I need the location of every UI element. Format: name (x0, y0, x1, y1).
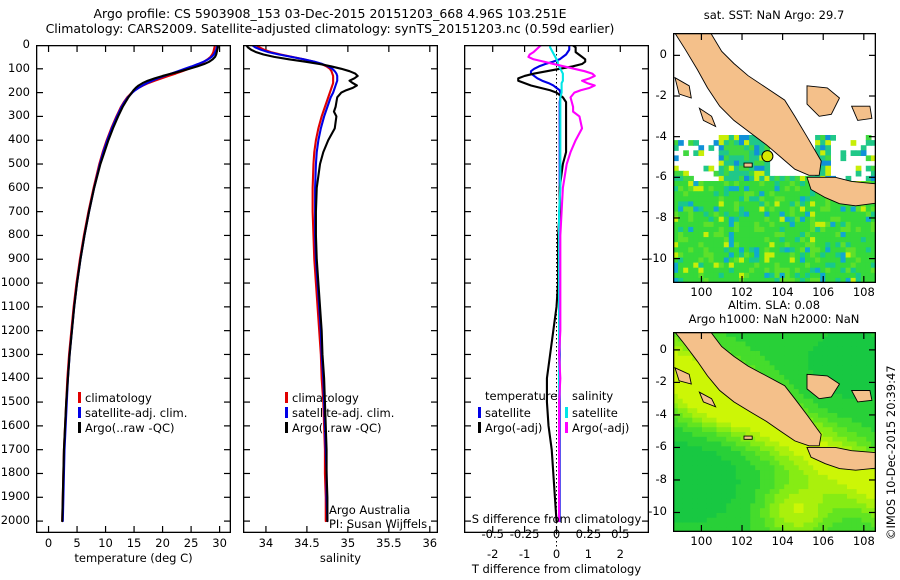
sla-cell (692, 375, 697, 380)
sst-cell (719, 135, 725, 141)
sla-cell (799, 461, 804, 466)
sla-cell (692, 413, 697, 418)
sst-cell (739, 242, 745, 248)
sst-cell (769, 273, 775, 279)
sst-cell (714, 273, 720, 279)
sla-cell (683, 446, 688, 451)
sst-cell (764, 196, 770, 202)
sla-cell (808, 337, 813, 342)
sst-cell (856, 222, 862, 228)
sst-cell (810, 196, 816, 202)
sst-cell (775, 212, 781, 218)
sst-cell (825, 140, 831, 146)
difference-plot[interactable] (464, 45, 649, 533)
sla-cell (683, 465, 688, 470)
map-sla-canvas[interactable] (673, 332, 876, 532)
sla-cell (775, 508, 780, 513)
sst-cell (704, 273, 710, 279)
sst-cell (841, 273, 847, 279)
sst-cell (714, 268, 720, 274)
sla-cell (721, 489, 726, 494)
sla-cell (775, 442, 780, 447)
sst-cell (749, 150, 755, 156)
sla-cell (717, 503, 722, 508)
sla-cell (697, 508, 702, 513)
sla-cell (779, 503, 784, 508)
sla-cell (866, 437, 871, 442)
sst-cell (759, 181, 765, 187)
sla-cell (707, 451, 712, 456)
sla-cell (837, 475, 842, 480)
sla-cell (789, 384, 794, 389)
sst-cell (714, 186, 720, 192)
sst-cell (775, 258, 781, 264)
sst-cell (678, 196, 684, 202)
sla-cell (712, 499, 717, 504)
sla-cell (712, 451, 717, 456)
sla-cell (784, 451, 789, 456)
temperature-series-satellite-adj-clim- (63, 45, 218, 521)
sst-cell (683, 171, 689, 177)
sla-cell (833, 489, 838, 494)
sla-cell (721, 446, 726, 451)
sla-cell (842, 413, 847, 418)
sla-cell (688, 499, 693, 504)
sla-cell (712, 475, 717, 480)
sst-cell (820, 263, 826, 269)
sla-cell (804, 513, 809, 518)
sla-cell (784, 475, 789, 480)
sst-cell (688, 201, 694, 207)
sla-cell (862, 484, 867, 489)
sla-cell (852, 432, 857, 437)
sst-cell (698, 150, 704, 156)
sla-cell (779, 508, 784, 513)
sst-cell (790, 191, 796, 197)
sla-cell (833, 513, 838, 518)
sla-cell (813, 503, 818, 508)
sla-cell (736, 518, 741, 523)
temperature-plot[interactable] (36, 45, 231, 533)
sst-cell (759, 176, 765, 182)
sla-cell (784, 437, 789, 442)
sst-cell (688, 222, 694, 228)
sst-cell (856, 273, 862, 279)
depth-tick-100: 100 (8, 61, 30, 75)
sst-cell (805, 252, 811, 258)
sla-cell (813, 470, 818, 475)
sla-cell (799, 470, 804, 475)
sst-cell (754, 258, 760, 264)
sst-cell (729, 161, 735, 167)
sst-cell (795, 247, 801, 253)
sla-cell (707, 513, 712, 518)
sla-cell (760, 484, 765, 489)
sla-cell (683, 503, 688, 508)
sla-cell (808, 503, 813, 508)
sla-cell (770, 503, 775, 508)
sst-cell (734, 222, 740, 228)
sla-cell (746, 494, 751, 499)
sla-cell (717, 456, 722, 461)
sla-cell (833, 394, 838, 399)
sla-cell (837, 423, 842, 428)
sla-cell (765, 437, 770, 442)
sla-cell (697, 427, 702, 432)
sla-cell (842, 432, 847, 437)
sst-cell (775, 186, 781, 192)
argo-position-marker[interactable] (762, 151, 773, 162)
sst-cell (820, 171, 826, 177)
sst-cell (729, 242, 735, 248)
sst-cell (759, 191, 765, 197)
sst-cell (835, 263, 841, 269)
sst-cell (729, 252, 735, 258)
sla-cell (726, 523, 731, 528)
sst-cell (734, 186, 740, 192)
depth-tick-1600: 1600 (1, 418, 30, 432)
sla-cell (828, 475, 833, 480)
sla-cell (765, 442, 770, 447)
sla-cell (683, 423, 688, 428)
sla-cell (726, 446, 731, 451)
sst-cell (861, 212, 867, 218)
sla-cell (799, 456, 804, 461)
sla-cell (828, 427, 833, 432)
sla-cell (847, 380, 852, 385)
sla-cell (828, 470, 833, 475)
sla-cell (741, 484, 746, 489)
sst-cell (744, 217, 750, 223)
sla-cell (833, 342, 838, 347)
sst-cell (866, 140, 872, 146)
sst-cell (734, 232, 740, 238)
sla-cell (750, 475, 755, 480)
sst-cell (739, 191, 745, 197)
sst-cell (719, 258, 725, 264)
sla-cell (847, 389, 852, 394)
sst-cell (719, 232, 725, 238)
sst-cell (775, 201, 781, 207)
sla-cell (683, 365, 688, 370)
sla-cell (808, 484, 813, 489)
sla-cell (813, 461, 818, 466)
sla-cell (755, 499, 760, 504)
sst-cell (856, 263, 862, 269)
sst-cell (820, 135, 826, 141)
sla-cell (804, 342, 809, 347)
sla-cell (779, 356, 784, 361)
sla-cell (794, 465, 799, 470)
temperature-legend-label: satellite-adj. clim. (85, 406, 187, 420)
legend-swatch-icon (285, 392, 288, 403)
sla-cell (862, 346, 867, 351)
sla-cell (731, 470, 736, 475)
sla-cell (847, 523, 852, 528)
sst-cell (764, 176, 770, 182)
map-sst[interactable] (673, 33, 876, 283)
temperature-series-argo-raw-qc- (62, 45, 218, 521)
sst-cell (810, 217, 816, 223)
sla-cell (799, 394, 804, 399)
sla-cell (707, 475, 712, 480)
map-sst-canvas[interactable] (673, 33, 876, 283)
sst-cell (856, 166, 862, 172)
sla-cell (857, 503, 862, 508)
sla-cell (857, 380, 862, 385)
sst-cell (764, 263, 770, 269)
difference-series-salinity-argo-adj- (528, 45, 594, 521)
sla-cell (866, 342, 871, 347)
sla-cell (760, 475, 765, 480)
sla-cell (683, 518, 688, 523)
sla-cell (760, 470, 765, 475)
sla-cell (770, 370, 775, 375)
sst-cell (704, 201, 710, 207)
sla-cell (842, 423, 847, 428)
sla-cell (852, 375, 857, 380)
sla-cell (833, 523, 838, 528)
sla-cell (697, 413, 702, 418)
sst-cell (780, 186, 786, 192)
sla-cell (866, 499, 871, 504)
sst-cell (851, 247, 857, 253)
sla-cell (813, 508, 818, 513)
sla-cell (688, 442, 693, 447)
depth-tick-900: 900 (8, 251, 30, 265)
sla-cell (760, 489, 765, 494)
depth-tick-1400: 1400 (1, 370, 30, 384)
sla-cell (750, 456, 755, 461)
sst-cell (820, 217, 826, 223)
sst-cell (785, 263, 791, 269)
sst-cell (780, 252, 786, 258)
sla-cell (697, 456, 702, 461)
sst-cell (719, 222, 725, 228)
sst-cell (729, 217, 735, 223)
sst-cell (729, 150, 735, 156)
sst-cell (856, 242, 862, 248)
sla-cell (847, 384, 852, 389)
sla-cell (862, 370, 867, 375)
sst-cell (759, 212, 765, 218)
sla-cell (755, 351, 760, 356)
sst-cell (815, 268, 821, 274)
sst-cell (785, 181, 791, 187)
sst-cell (724, 176, 730, 182)
sla-cell (866, 503, 871, 508)
sst-cell (749, 201, 755, 207)
map-sla-xtick-100: 100 (690, 534, 712, 548)
sst-cell (719, 161, 725, 167)
sla-cell (789, 375, 794, 380)
sst-cell (714, 263, 720, 269)
sla-cell (712, 442, 717, 447)
sst-cell (754, 273, 760, 279)
sst-cell (754, 150, 760, 156)
sla-cell (688, 389, 693, 394)
sst-cell (678, 242, 684, 248)
sst-cell (724, 252, 730, 258)
sla-cell (736, 413, 741, 418)
sst-cell (754, 176, 760, 182)
sla-cell (823, 513, 828, 518)
sst-cell (790, 227, 796, 233)
sla-cell (808, 518, 813, 523)
sla-cell (760, 451, 765, 456)
sla-cell (750, 513, 755, 518)
sla-cell (726, 432, 731, 437)
sst-cell (749, 140, 755, 146)
sst-cell (709, 242, 715, 248)
sst-cell (835, 237, 841, 243)
map-sla[interactable] (673, 332, 876, 532)
sst-cell (734, 263, 740, 269)
sla-cell (712, 456, 717, 461)
sla-cell (770, 337, 775, 342)
sst-cell (830, 258, 836, 264)
sla-cell (750, 442, 755, 447)
sst-cell (820, 227, 826, 233)
sla-cell (789, 365, 794, 370)
sla-cell (692, 523, 697, 528)
sla-cell (842, 408, 847, 413)
sla-cell (765, 365, 770, 370)
sla-cell (813, 513, 818, 518)
sla-cell (862, 446, 867, 451)
sla-cell (804, 499, 809, 504)
salinity-plot[interactable] (243, 45, 438, 533)
sla-cell (746, 346, 751, 351)
sst-cell (861, 150, 867, 156)
sla-cell (852, 499, 857, 504)
sla-cell (765, 361, 770, 366)
sst-cell (739, 237, 745, 243)
sst-cell (810, 212, 816, 218)
temperature-xtick-30: 30 (212, 536, 227, 550)
sst-cell (790, 252, 796, 258)
sla-cell (721, 475, 726, 480)
sst-cell (851, 268, 857, 274)
sla-cell (726, 413, 731, 418)
sla-cell (760, 461, 765, 466)
sst-cell (795, 222, 801, 228)
sla-cell (775, 342, 780, 347)
sla-cell (678, 499, 683, 504)
sla-cell (833, 356, 838, 361)
difference-legend-temperature-item-1: Argo(-adj) (478, 419, 557, 434)
sla-cell (837, 427, 842, 432)
sst-cell (759, 268, 765, 274)
sst-cell (846, 217, 852, 223)
sla-cell (818, 370, 823, 375)
sla-cell (828, 337, 833, 342)
sst-cell (714, 237, 720, 243)
sla-cell (779, 375, 784, 380)
sla-cell (688, 446, 693, 451)
sst-cell (815, 237, 821, 243)
sla-cell (794, 508, 799, 513)
sla-cell (712, 423, 717, 428)
sla-cell (717, 418, 722, 423)
sst-cell (683, 263, 689, 269)
sst-cell (846, 207, 852, 213)
sst-cell (795, 191, 801, 197)
temperature-legend: climatologysatellite-adj. clim.Argo(..ra… (78, 389, 187, 434)
sst-cell (719, 227, 725, 233)
salinity-xtick-34: 34 (259, 536, 274, 550)
sla-cell (784, 456, 789, 461)
sst-cell (825, 227, 831, 233)
sst-cell (866, 155, 872, 161)
sst-cell (769, 258, 775, 264)
sla-cell (721, 503, 726, 508)
sla-cell (852, 413, 857, 418)
sst-cell (719, 181, 725, 187)
sla-cell (779, 437, 784, 442)
sst-cell (724, 145, 730, 151)
sst-cell (830, 227, 836, 233)
sst-cell (714, 207, 720, 213)
sla-cell (818, 465, 823, 470)
sst-cell (759, 171, 765, 177)
sla-cell (702, 499, 707, 504)
sla-cell (847, 499, 852, 504)
panel-salinity (243, 45, 438, 533)
sst-cell (825, 247, 831, 253)
sla-cell (692, 489, 697, 494)
sla-cell (794, 523, 799, 528)
sst-cell (851, 222, 857, 228)
sla-cell (828, 484, 833, 489)
sst-cell (678, 191, 684, 197)
sst-cell (749, 145, 755, 151)
sla-cell (862, 499, 867, 504)
sla-cell (692, 475, 697, 480)
sla-cell (799, 337, 804, 342)
sla-cell (765, 480, 770, 485)
sla-cell (750, 470, 755, 475)
sst-cell (734, 171, 740, 177)
sla-cell (746, 337, 751, 342)
sla-cell (731, 484, 736, 489)
sla-cell (746, 465, 751, 470)
sst-cell (830, 222, 836, 228)
depth-axis-ticks: 0100200300400500600700800900100011001200… (0, 0, 34, 580)
sla-cell (823, 408, 828, 413)
sla-cell (852, 418, 857, 423)
sla-cell (799, 489, 804, 494)
sst-cell (734, 201, 740, 207)
sla-cell (775, 337, 780, 342)
temperature-plot-frame (37, 46, 231, 533)
sla-cell (688, 365, 693, 370)
sst-cell (759, 252, 765, 258)
sla-cell (702, 513, 707, 518)
sst-cell (678, 212, 684, 218)
sla-cell (678, 427, 683, 432)
sla-cell (847, 356, 852, 361)
sla-cell (779, 337, 784, 342)
sla-cell (842, 437, 847, 442)
difference-s-xtick--0.25: -0.25 (510, 527, 540, 541)
sla-cell (833, 503, 838, 508)
sla-cell (755, 456, 760, 461)
sst-cell (841, 242, 847, 248)
sla-cell (717, 446, 722, 451)
sla-cell (726, 503, 731, 508)
sla-cell (731, 408, 736, 413)
